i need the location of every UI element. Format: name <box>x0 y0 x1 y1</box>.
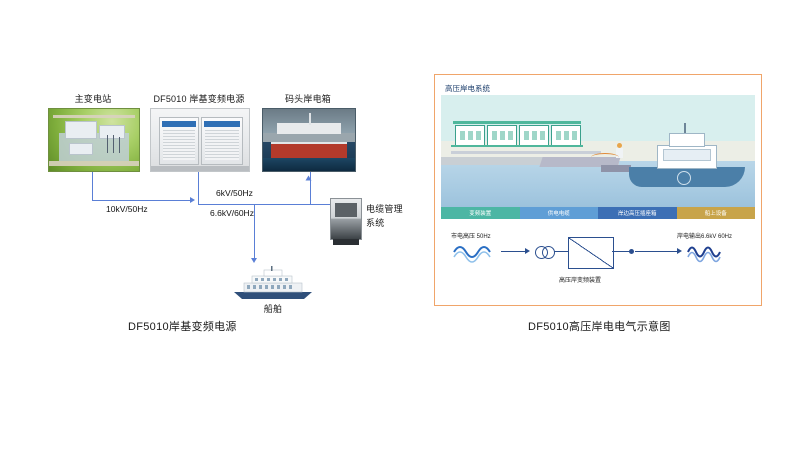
output-waveform-icon <box>687 241 731 263</box>
wire-substation-down <box>92 172 93 200</box>
converter-cabinet-photo <box>150 108 250 172</box>
scene-ship-mast <box>684 123 686 133</box>
cable-management-device <box>330 198 362 240</box>
ship-icon <box>230 266 316 300</box>
flow-line-1 <box>501 251 527 252</box>
substation-photo <box>48 108 140 172</box>
legend-item-socket-box: 岸边高压插座箱 <box>598 207 677 219</box>
label-ship: 船舶 <box>230 302 316 315</box>
legend-item-converter: 变频装置 <box>441 207 520 219</box>
scene-green-roof <box>453 121 581 124</box>
label-cable-mgmt-2: 系统 <box>366 216 384 229</box>
voltage-output-2: 6.6kV/60Hz <box>210 208 254 218</box>
scene-cable-run <box>451 151 601 154</box>
flow-line-3 <box>612 251 630 252</box>
scene-building <box>487 125 517 147</box>
flow-line-2 <box>554 251 568 252</box>
scene-legend: 变频装置 供电电缆 岸边高压插座箱 船上设备 <box>441 207 755 219</box>
right-caption: DF5010高压岸电电气示意图 <box>528 318 671 334</box>
right-panel-title: 高压岸电系统 <box>445 83 490 94</box>
legend-item-ship-equipment: 船上设备 <box>677 207 756 219</box>
flow-arrow-1 <box>525 248 530 254</box>
wire-cabinet-down <box>198 172 199 204</box>
scene-building <box>455 125 485 147</box>
shore-power-scene <box>441 95 755 207</box>
scene-ship-bridge <box>669 133 705 147</box>
shore-power-box-photo <box>262 108 356 172</box>
transformer-icon-b <box>542 246 555 259</box>
input-waveform-icon <box>453 241 497 263</box>
scene-green-base <box>451 145 583 147</box>
scene-ship-windows <box>663 149 711 161</box>
ship-illustration <box>230 266 316 300</box>
arrow-to-cabinet <box>190 197 195 203</box>
label-shore-box: 码头岸电箱 <box>262 92 354 105</box>
arrow-to-shorebox <box>306 176 312 181</box>
electrical-flow-diagram: 市电高压 50Hz 岸电输出6.6kV 60Hz <box>441 227 755 299</box>
label-cable-mgmt-1: 电缆管理 <box>366 202 403 215</box>
right-diagram-panel: 高压岸电系统 <box>434 74 762 306</box>
flow-device-label: 高压岸变频装置 <box>559 275 601 284</box>
diagram-canvas: 主变电站 DF5010 岸基变频电源 码头岸电箱 <box>0 0 800 450</box>
arrow-to-ship <box>251 258 257 263</box>
wire-to-cable-mgmt <box>310 204 330 205</box>
flow-arrow-2 <box>677 248 682 254</box>
label-converter: DF5010 岸基变频电源 <box>140 92 258 105</box>
legend-item-cable: 供电电缆 <box>520 207 599 219</box>
converter-block-icon <box>568 237 614 269</box>
wire-substation-to-cabinet <box>92 200 192 201</box>
scene-power-cable <box>591 153 619 162</box>
flow-line-4 <box>635 251 679 252</box>
voltage-input: 10kV/50Hz <box>106 204 148 214</box>
scene-building <box>551 125 581 147</box>
flow-input-label: 市电高压 50Hz <box>451 231 491 240</box>
wire-to-ship <box>254 204 255 260</box>
left-caption: DF5010岸基变频电源 <box>128 318 237 334</box>
flow-node-dot <box>629 249 634 254</box>
flow-output-label: 岸电输出6.6kV 60Hz <box>677 231 732 240</box>
scene-connector-box <box>601 165 631 172</box>
scene-building <box>519 125 549 147</box>
label-substation: 主变电站 <box>48 92 138 105</box>
scene-ship-logo <box>677 171 691 185</box>
voltage-output-1: 6kV/50Hz <box>216 188 253 198</box>
left-diagram: 主变电站 DF5010 岸基变频电源 码头岸电箱 <box>30 80 390 330</box>
